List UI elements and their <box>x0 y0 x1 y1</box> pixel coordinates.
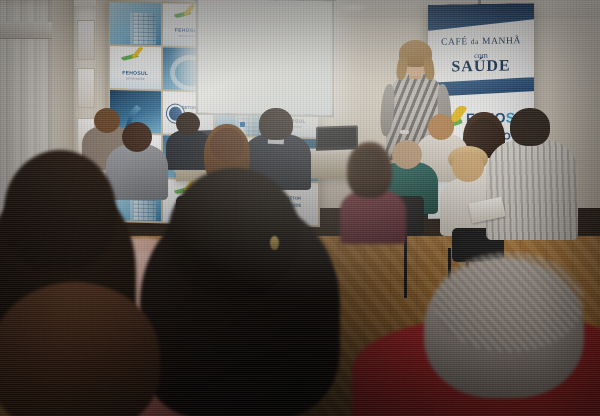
door-pane-2 <box>77 68 95 108</box>
backdrop-logo-sub: SETOR SAÚDE <box>110 77 161 81</box>
attendee-head-i <box>452 152 484 182</box>
projection-screen <box>198 0 332 115</box>
fehosul-logo-icon <box>120 49 151 67</box>
banner-title-line1: CAFÉ da MANHÃ <box>428 36 534 48</box>
projection-screen-frame <box>196 0 334 117</box>
attendee-head-c <box>122 122 152 152</box>
conference-photo: FEHOSULSETOR SAÚDESETORSAÚDEFEHOSULSETOR… <box>0 0 600 416</box>
attendee-head-a <box>176 112 200 135</box>
attendee-body-c <box>106 144 168 200</box>
blinds-headrail <box>0 22 56 39</box>
seated-man-suit-head <box>259 108 293 140</box>
banner-word-da: da <box>471 37 479 46</box>
earring <box>270 236 279 250</box>
attendee-body-e <box>340 190 406 244</box>
chair-leg-1 <box>404 236 407 298</box>
attendee-head-j <box>468 118 500 150</box>
attendee-head-b <box>94 108 120 133</box>
logo-leaf-yellow <box>131 46 143 59</box>
note-taker-head <box>510 108 550 146</box>
building-photo <box>133 13 156 45</box>
ceiling-light-2 <box>340 3 366 11</box>
backdrop-tile-logo: FEHOSULSETOR SAÚDE <box>110 46 161 89</box>
bottle-cap <box>240 122 245 127</box>
banner-word-saude: SAÚDE <box>428 57 534 77</box>
banner-word-cafe: CAFÉ <box>441 37 468 47</box>
attendee-head-e <box>352 148 386 181</box>
banner-word-manha: MANHÃ <box>482 36 521 47</box>
attendee-head-d <box>210 128 244 162</box>
door-pane-1 <box>77 20 95 60</box>
speaker-wristwatch <box>400 130 409 134</box>
laptop-screen <box>318 127 356 147</box>
attendee-head-g <box>428 114 454 140</box>
foreground-ponytail-head <box>168 168 300 300</box>
backdrop-tile-building <box>110 2 161 45</box>
banner-navy-top <box>428 3 534 31</box>
logo-leaf-yellow <box>184 3 196 16</box>
foreground-dark-head <box>4 150 116 270</box>
foreground-grey-hair <box>434 252 584 352</box>
laptop-primary <box>316 125 358 150</box>
attendee-head-f <box>392 140 422 169</box>
note-taker-body <box>486 140 578 240</box>
